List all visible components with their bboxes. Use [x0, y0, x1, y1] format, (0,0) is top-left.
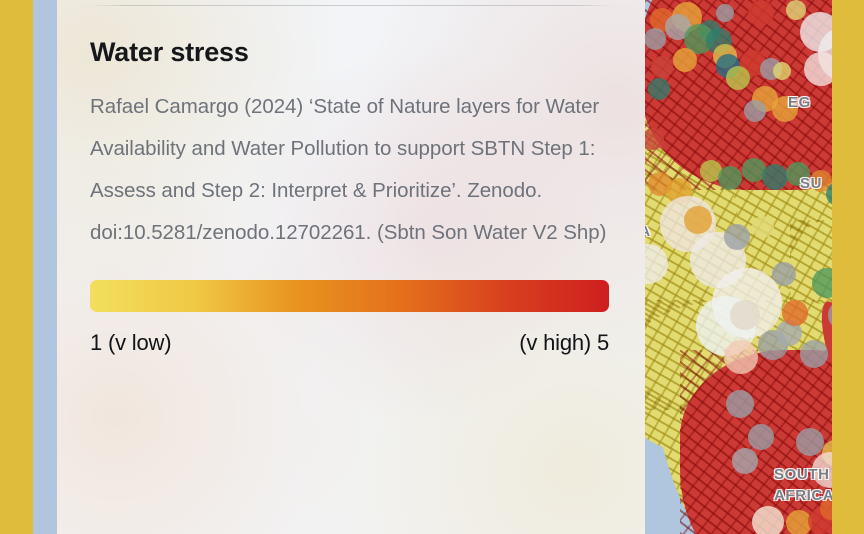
- map-bubble[interactable]: [772, 96, 798, 122]
- map-bubble[interactable]: [724, 224, 750, 250]
- legend-citation: Rafael Camargo (2024) ‘State of Nature l…: [90, 86, 608, 254]
- map-bubble[interactable]: [726, 66, 750, 90]
- map-bubble[interactable]: [762, 164, 788, 190]
- map-bubble[interactable]: [673, 48, 697, 72]
- map-bubble[interactable]: [782, 300, 808, 326]
- legend-gradient-bar: [90, 280, 609, 312]
- map-bubble[interactable]: [716, 4, 734, 22]
- map-bubble[interactable]: [786, 0, 806, 20]
- map-bubble[interactable]: [752, 216, 774, 238]
- map-bubble[interactable]: [773, 62, 791, 80]
- map-bubble[interactable]: [730, 300, 760, 330]
- map-bubble[interactable]: [744, 100, 766, 122]
- map-bubble[interactable]: [786, 162, 810, 186]
- map-bubble[interactable]: [796, 428, 824, 456]
- map-bubble[interactable]: [724, 340, 758, 374]
- map-bubble[interactable]: [732, 448, 758, 474]
- map-bubble[interactable]: [718, 166, 742, 190]
- map-bubble[interactable]: [684, 206, 712, 234]
- map-bubble[interactable]: [800, 340, 828, 368]
- map-bubble[interactable]: [772, 262, 796, 286]
- map-bubble[interactable]: [648, 78, 670, 100]
- scale-min-label: 1 (v low): [90, 330, 171, 356]
- map-edge-strip-right: [832, 0, 864, 534]
- map-bubble[interactable]: [642, 128, 664, 150]
- map-bubble[interactable]: [644, 28, 666, 50]
- scale-max-label: (v high) 5: [519, 330, 609, 356]
- legend-panel: Water stress Rafael Camargo (2024) ‘Stat…: [57, 0, 645, 534]
- map-bubble[interactable]: [651, 56, 673, 78]
- map-bubble[interactable]: [726, 390, 754, 418]
- map-bubble[interactable]: [748, 0, 774, 26]
- map-viewport: EGSUNASOUTHAFRICA Water stress Rafael Ca…: [0, 0, 864, 534]
- legend-title: Water stress: [90, 36, 612, 68]
- map-bubble[interactable]: [748, 424, 774, 450]
- map-edge-strip-left: [0, 0, 33, 534]
- legend-content: Water stress Rafael Camargo (2024) ‘Stat…: [90, 0, 612, 356]
- map-bubble[interactable]: [752, 506, 784, 534]
- legend-scale-labels: 1 (v low) (v high) 5: [90, 330, 609, 356]
